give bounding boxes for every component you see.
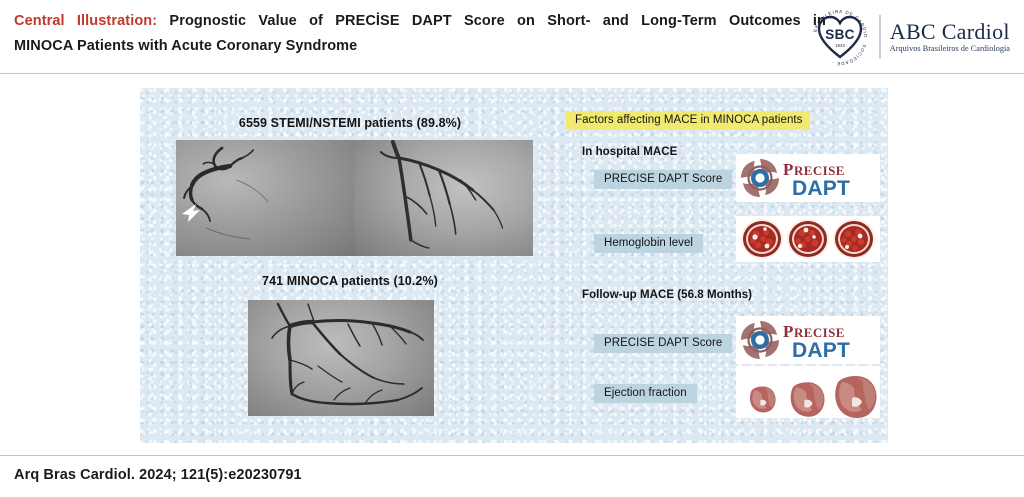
journal-logo: BRASILEIRA DE CARDIOLOGIA SOCIEDADE · SB… xyxy=(810,4,1010,70)
factors-column: Factors affecting MACE in MINOCA patient… xyxy=(560,88,888,443)
angiogram-lad-view xyxy=(355,140,534,256)
section-heading-in-hospital-mace: In hospital MACE xyxy=(582,146,677,158)
header-title-block: Central Illustration: Prognostic Value o… xyxy=(14,9,844,59)
svg-text:SBC: SBC xyxy=(826,27,855,42)
central-illustration-label: Central Illustration: xyxy=(14,13,157,29)
journal-subtitle: Arquivos Brasileiros de Cardiologia xyxy=(890,43,1010,54)
citation: Arq Bras Cardiol. 2024; 121(5):e20230791 xyxy=(14,467,302,483)
ejection-fraction-illustration xyxy=(736,366,880,418)
svg-text:RECISE: RECISE xyxy=(794,163,845,178)
rca-vessel-tree-icon xyxy=(176,140,355,256)
sbc-logo-icon: BRASILEIRA DE CARDIOLOGIA SOCIEDADE · SB… xyxy=(810,7,870,67)
minoca-caption: 741 MINOCA patients (10.2%) xyxy=(140,274,560,288)
precise-dapt-logo-icon: P RECISE DAPT xyxy=(736,316,880,364)
central-illustration-page: Central Illustration: Prognostic Value o… xyxy=(0,0,1024,497)
heart-medium xyxy=(791,382,825,416)
journal-name: ABC Cardiol xyxy=(890,20,1010,43)
lad-vessel-tree-icon xyxy=(355,140,534,256)
factor-chip-hemoglobin-level: Hemoglobin level xyxy=(594,234,703,253)
precise-dapt-logo-inhospital: P RECISE DAPT xyxy=(736,154,880,202)
logo-divider xyxy=(879,15,881,59)
footer: Arq Bras Cardiol. 2024; 121(5):e20230791 xyxy=(0,455,1024,497)
patient-cohort-column: 6559 STEMI/NSTEMI patients (89.8%) xyxy=(140,88,560,443)
sbc-heart-icon: SBC 1943 xyxy=(817,15,863,59)
svg-text:DAPT: DAPT xyxy=(792,177,850,200)
blood-vessel-cross-sections-icon xyxy=(736,216,880,262)
page-title-text: Prognostic Value of PRECİSE DAPT Score o… xyxy=(157,13,826,29)
heart-large xyxy=(835,376,876,418)
stemi-caption: 6559 STEMI/NSTEMI patients (89.8%) xyxy=(140,116,560,130)
coronary-angiogram-minoca xyxy=(248,300,434,416)
angiogram-rca-view xyxy=(176,140,355,256)
page-title-line-1: Central Illustration: Prognostic Value o… xyxy=(14,9,826,34)
svg-text:DAPT: DAPT xyxy=(792,339,850,362)
svg-text:RECISE: RECISE xyxy=(794,325,845,340)
precise-dapt-logo-icon: P RECISE DAPT xyxy=(736,154,880,202)
factor-chip-ejection-fraction: Ejection fraction xyxy=(594,384,697,403)
heart-small xyxy=(750,386,776,412)
coronary-angiogram-obstructive xyxy=(176,140,533,256)
minoca-vessel-tree-icon xyxy=(248,300,434,416)
page-title-line-2: MINOCA Patients with Acute Coronary Synd… xyxy=(14,34,844,59)
section-heading-followup-mace: Follow-up MACE (56.8 Months) xyxy=(582,289,752,301)
factor-chip-precise-dapt-score-followup: PRECISE DAPT Score xyxy=(594,334,732,353)
factors-banner: Factors affecting MACE in MINOCA patient… xyxy=(566,111,810,130)
heart-sizes-icon xyxy=(736,366,880,418)
illustration-panel: 6559 STEMI/NSTEMI patients (89.8%) xyxy=(140,88,888,443)
hemoglobin-illustration xyxy=(736,216,880,262)
header: Central Illustration: Prognostic Value o… xyxy=(0,0,1024,74)
journal-name-block: ABC Cardiol Arquivos Brasileiros de Card… xyxy=(890,20,1010,54)
svg-text:1943: 1943 xyxy=(835,43,845,48)
factor-chip-precise-dapt-score-inhospital: PRECISE DAPT Score xyxy=(594,170,732,189)
precise-dapt-logo-followup: P RECISE DAPT xyxy=(736,316,880,364)
